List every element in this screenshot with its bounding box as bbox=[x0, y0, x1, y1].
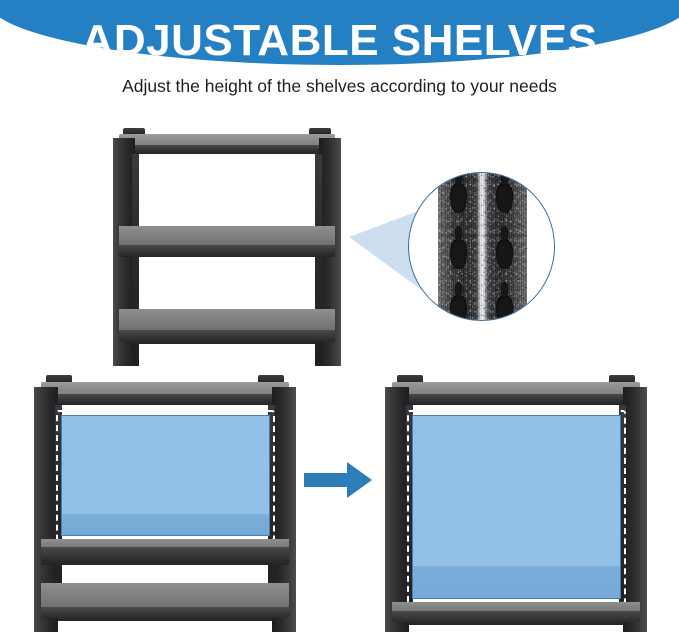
bottom-shelf-board bbox=[41, 583, 289, 609]
right-foot bbox=[623, 622, 647, 632]
keyhole-slot bbox=[496, 239, 513, 269]
right-foot bbox=[272, 618, 296, 632]
three-tier-shelf-unit bbox=[113, 128, 341, 366]
right-arrow bbox=[304, 462, 372, 498]
infographic-root: ADJUSTABLE SHELVES Adjust the height of … bbox=[0, 0, 679, 635]
adjustable-space-highlight bbox=[61, 415, 270, 536]
top-shelf-front-beam bbox=[119, 145, 335, 154]
middle-shelf-front-beam bbox=[41, 547, 289, 565]
right-arrow-icon bbox=[304, 462, 372, 498]
keyhole-slot bbox=[450, 239, 467, 269]
page-subtitle: Adjust the height of the shelves accordi… bbox=[0, 76, 679, 97]
header-banner: ADJUSTABLE SHELVES bbox=[0, 0, 679, 65]
left-foot bbox=[34, 618, 58, 632]
bottom-shelf-front-beam bbox=[392, 611, 640, 625]
shelf-unit-after bbox=[385, 375, 647, 632]
right-upright-post bbox=[623, 387, 647, 632]
bottom-shelf-front-beam bbox=[119, 330, 335, 344]
shelf-unit-before bbox=[34, 375, 296, 632]
left-foot bbox=[113, 342, 135, 366]
bottom-shelf-board bbox=[119, 309, 335, 331]
magnifier-circle bbox=[408, 172, 555, 321]
top-shelf-front-beam bbox=[41, 394, 289, 405]
adjustable-space-highlight bbox=[412, 415, 621, 599]
right-foot bbox=[319, 342, 341, 366]
keyhole-slot bbox=[496, 295, 513, 321]
keyhole-slot bbox=[496, 183, 513, 213]
keyhole-slot bbox=[450, 295, 467, 321]
left-foot bbox=[385, 622, 409, 632]
page-title: ADJUSTABLE SHELVES bbox=[0, 0, 679, 65]
middle-shelf-front-beam bbox=[119, 245, 335, 257]
bottom-shelf-front-beam bbox=[41, 607, 289, 621]
keyhole-slot bbox=[450, 183, 467, 213]
magnified-post bbox=[438, 172, 527, 321]
middle-shelf-board bbox=[119, 226, 335, 246]
top-shelf-front-beam bbox=[392, 394, 640, 405]
